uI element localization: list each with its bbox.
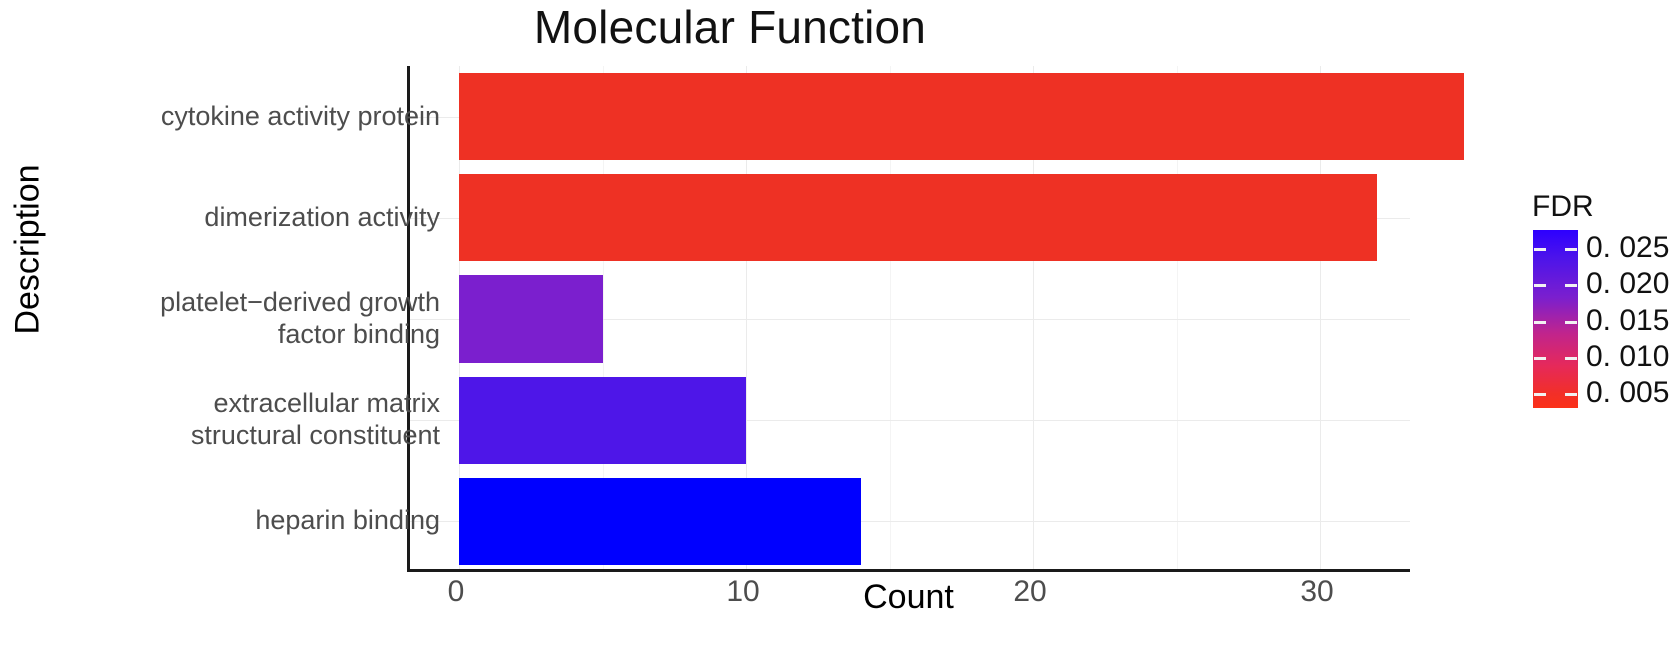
legend-tick-mark (1534, 357, 1546, 360)
y-axis-tick-label: cytokine activity protein (110, 101, 440, 133)
chart-root: Molecular Function Description Count cyt… (0, 0, 1672, 658)
bar (459, 174, 1377, 261)
legend-tick-mark (1565, 284, 1577, 287)
bar (459, 275, 603, 362)
y-axis-tick-label: extracellular matrixstructural constitue… (110, 388, 440, 452)
y-axis-tick-label-line: extracellular matrix (110, 388, 440, 420)
legend-tick-label: 0. 025 (1586, 231, 1669, 265)
x-axis-title: Count (407, 578, 1410, 617)
legend-body: 0. 0250. 0200. 0150. 0100. 005 (1486, 230, 1672, 430)
legend-tick-mark (1565, 248, 1577, 251)
legend-tick-label: 0. 015 (1586, 304, 1669, 338)
legend-tick-mark (1565, 393, 1577, 396)
x-axis-tick-label: 30 (1277, 575, 1357, 609)
x-axis-tick-label: 10 (703, 575, 783, 609)
y-axis-tick-label-line: structural constituent (110, 420, 440, 452)
plot-panel (407, 66, 1410, 572)
y-axis-tick-label: dimerization activity (110, 202, 440, 234)
legend: FDR 0. 0250. 0200. 0150. 0100. 005 (1486, 190, 1672, 430)
x-axis-tick-label: 20 (990, 575, 1070, 609)
legend-tick-mark (1565, 321, 1577, 324)
x-axis-tick-label: 0 (416, 575, 496, 609)
y-axis-tick-label-line: factor binding (110, 319, 440, 351)
y-axis-tick-label: heparin binding (110, 505, 440, 537)
legend-colorbar (1533, 230, 1578, 408)
legend-tick-mark (1565, 357, 1577, 360)
legend-tick-mark (1534, 393, 1546, 396)
legend-tick-label: 0. 020 (1586, 267, 1669, 301)
legend-tick-label: 0. 010 (1586, 340, 1669, 374)
y-axis-tick-label-line: cytokine activity protein (110, 101, 440, 133)
y-axis-tick-label-line: heparin binding (110, 505, 440, 537)
y-axis-tick-label-line: dimerization activity (110, 202, 440, 234)
y-axis-tick-label: platelet−derived growthfactor binding (110, 287, 440, 351)
legend-tick-label: 0. 005 (1586, 376, 1669, 410)
y-axis-tick-label-line: platelet−derived growth (110, 287, 440, 319)
bar (459, 73, 1464, 160)
legend-title: FDR (1532, 190, 1672, 224)
legend-tick-mark (1534, 284, 1546, 287)
bar (459, 377, 746, 464)
chart-title: Molecular Function (0, 2, 1460, 53)
bar (459, 478, 861, 565)
legend-tick-mark (1534, 248, 1546, 251)
y-axis-title: Description (9, 130, 48, 370)
legend-tick-mark (1534, 321, 1546, 324)
